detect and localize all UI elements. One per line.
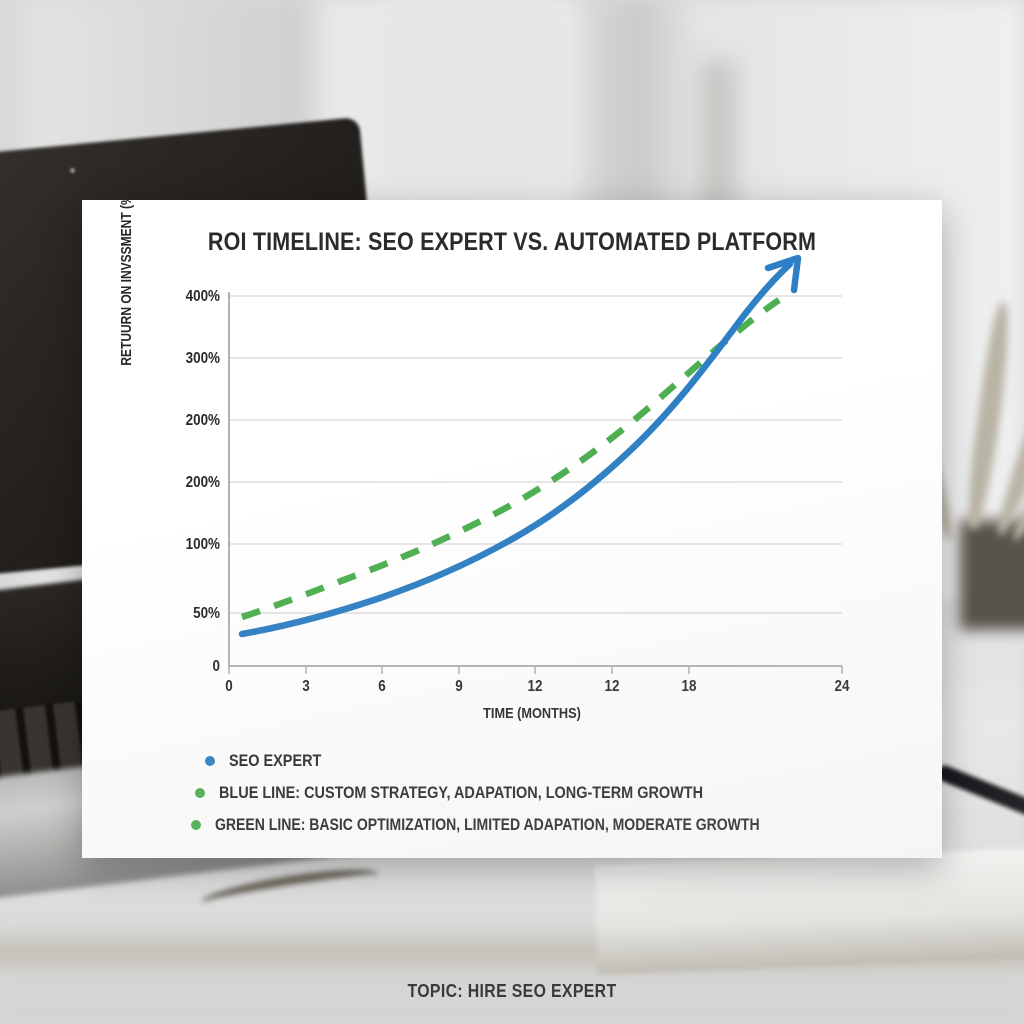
laptop-webcam-icon [70, 168, 75, 173]
legend-item: BLUE LINE: CUSTOM STRATEGY, ADAPATION, L… [187, 777, 927, 809]
series-line-green [242, 300, 779, 617]
x-tick-label: 18 [670, 678, 709, 696]
legend-label: GREEN LINE: BASIC OPTIMIZATION, LIMITED … [215, 816, 760, 835]
legend-label: SEO EXPERT [229, 751, 321, 771]
legend-dot-icon [195, 788, 205, 798]
x-axis-title: TIME (MONTHS) [269, 705, 796, 722]
x-tick-label: 12 [593, 678, 632, 696]
photo-scene: ROI TIMELINE: SEO EXPERT VS. AUTOMATED P… [0, 0, 1024, 1024]
grid-lines [229, 296, 842, 613]
wall-panel [380, 0, 570, 190]
topic-caption: TOPIC: HIRE SEO EXPERT [61, 981, 962, 1002]
notebook [594, 847, 1024, 975]
legend-label: BLUE LINE: CUSTOM STRATEGY, ADAPATION, L… [219, 783, 703, 803]
x-tick-label: 6 [363, 678, 402, 696]
legend-dot-icon [191, 820, 201, 830]
x-tick-label: 12 [516, 678, 555, 696]
plot-area-wrapper: RETUURN ON INVSSMENT (%) 400% 300% 200% … [82, 200, 942, 858]
legend-item: GREEN LINE: BASIC OPTIMIZATION, LIMITED … [187, 809, 927, 841]
chart-legend: SEO EXPERT BLUE LINE: CUSTOM STRATEGY, A… [187, 745, 927, 841]
x-tick-label: 3 [287, 678, 326, 696]
legend-item: SEO EXPERT [187, 745, 927, 777]
x-tick-label: 9 [440, 678, 479, 696]
x-tick-marks [229, 666, 842, 674]
series-line-blue [242, 264, 790, 634]
legend-dot-icon [205, 756, 215, 766]
axis-lines [229, 292, 842, 666]
chart-card: ROI TIMELINE: SEO EXPERT VS. AUTOMATED P… [82, 200, 942, 858]
x-tick-label: 24 [823, 678, 862, 696]
x-tick-label: 0 [210, 678, 249, 696]
